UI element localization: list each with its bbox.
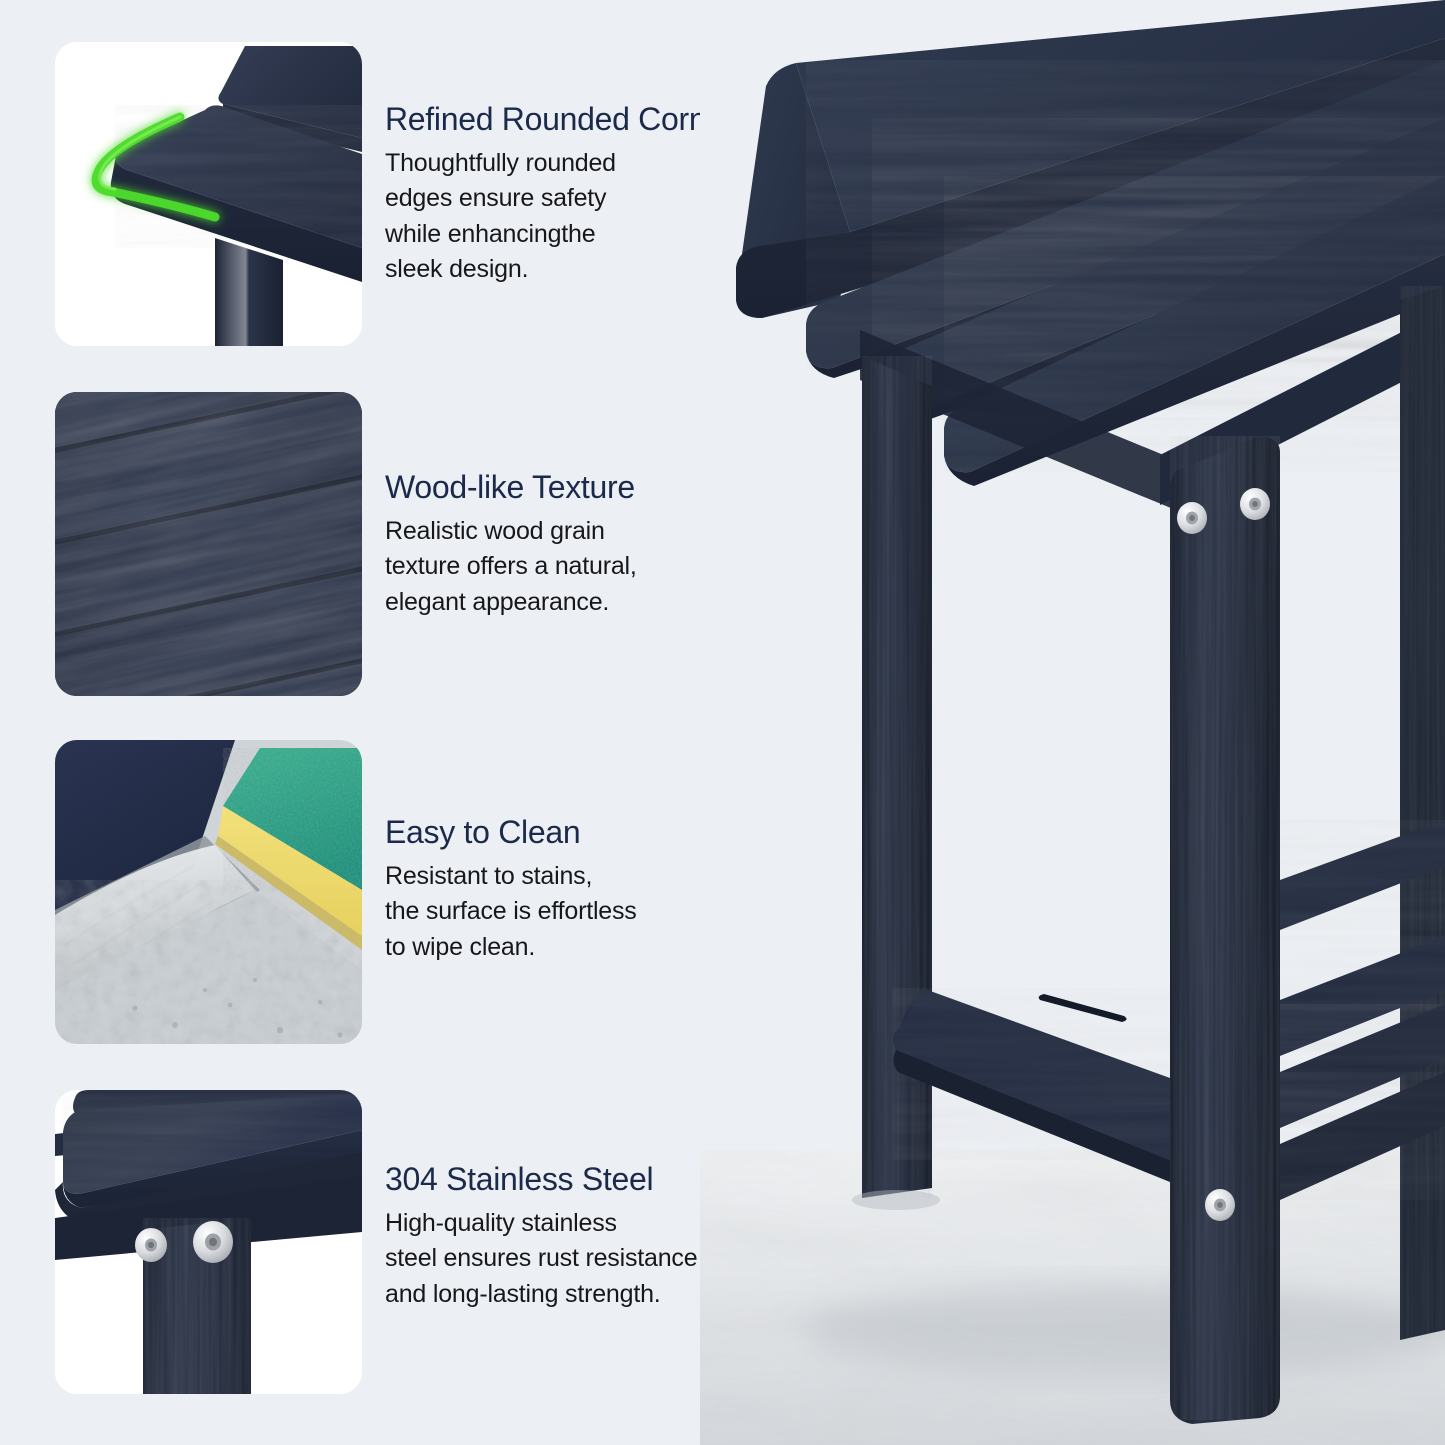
feature-row-wood-texture: Wood-like Texture Realistic wood grain t…	[0, 392, 790, 696]
hero-product-image	[700, 0, 1445, 1445]
feature-row-easy-to-clean: Easy to Clean Resistant to stains, the s…	[0, 740, 790, 1044]
wood-grain-closeup-image	[55, 392, 362, 696]
rounded-corner-closeup-image	[55, 42, 362, 346]
feature-row-rounded-corners: Refined Rounded Corners Thoughtfully rou…	[0, 42, 790, 346]
infographic-page: Refined Rounded Corners Thoughtfully rou…	[0, 0, 1445, 1445]
feature-row-stainless-steel: 304 Stainless Steel High-quality stainle…	[0, 1090, 790, 1394]
sponge-cleaning-closeup-image	[55, 740, 362, 1044]
stainless-steel-screw-closeup-image	[55, 1090, 362, 1394]
